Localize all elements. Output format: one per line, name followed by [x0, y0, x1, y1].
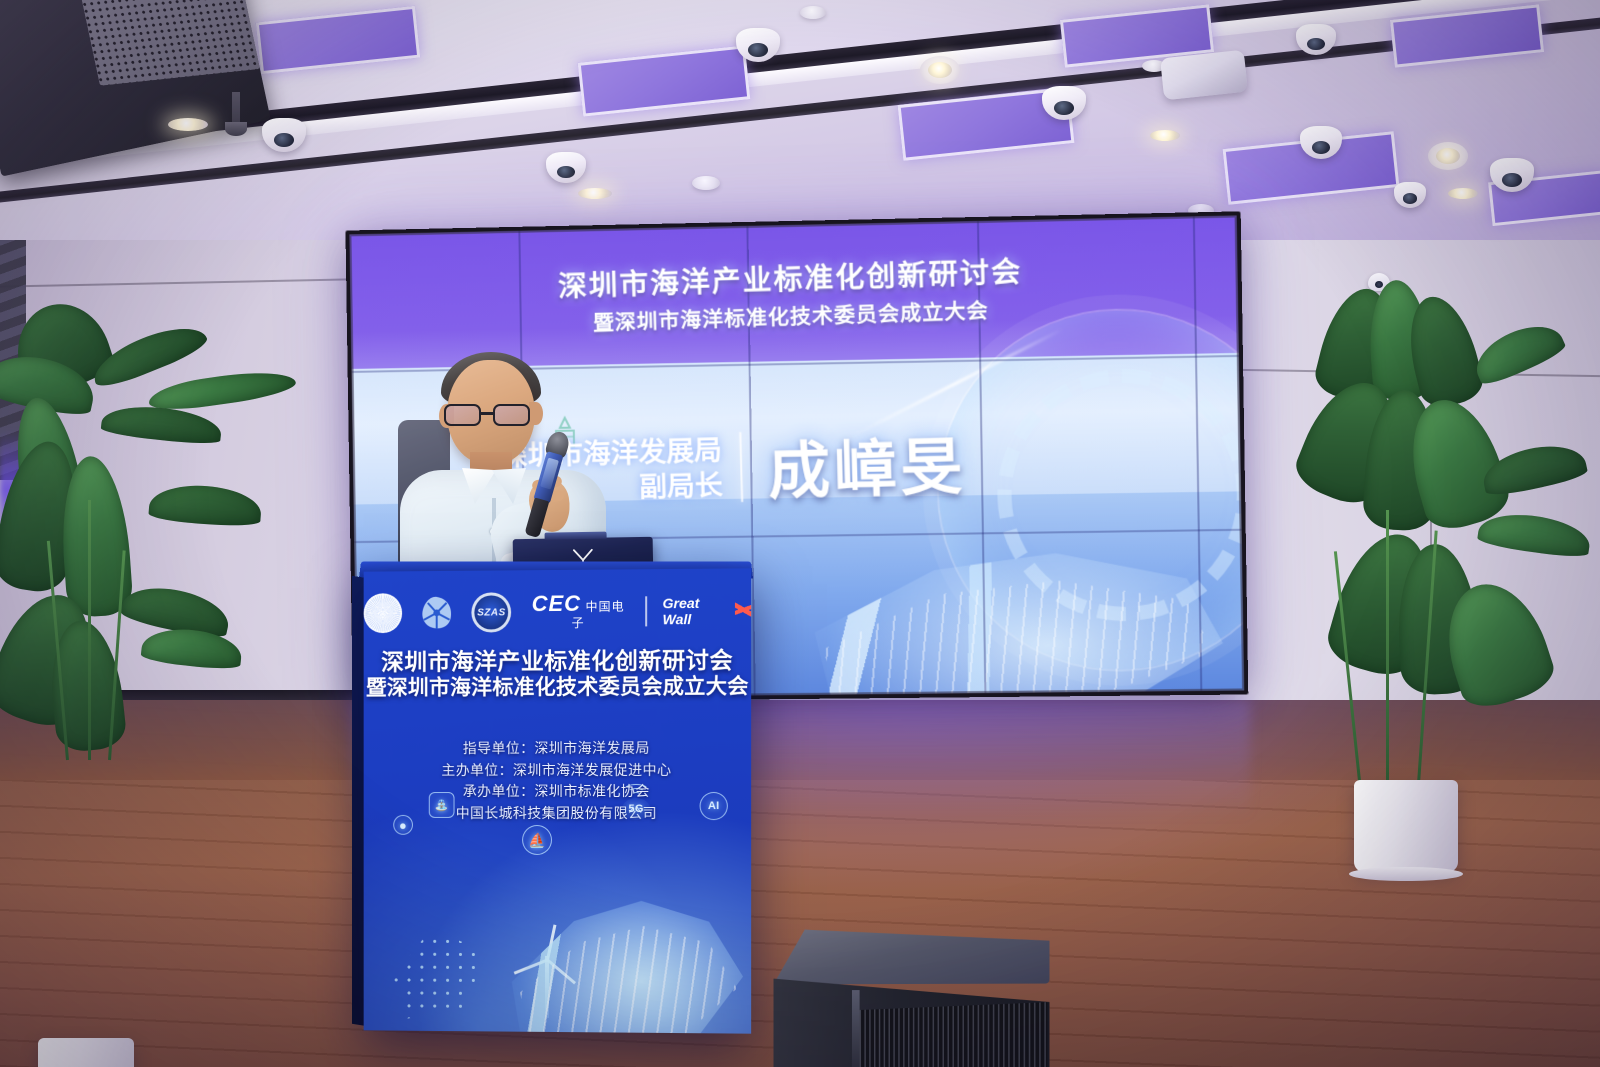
spotlight-5: [168, 118, 208, 131]
ai-label: AI: [708, 800, 720, 812]
great-wall-mark-icon: [735, 600, 751, 622]
leaf-logo-icon: [417, 593, 457, 633]
plant-leaf: [1477, 509, 1593, 560]
subwoofer-grille: [860, 1002, 1048, 1067]
bird-of-paradise-plant-right: [1290, 280, 1600, 860]
podium-org-line-1: 指导单位：深圳市海洋发展局: [364, 738, 751, 760]
speaker-mount: [232, 92, 240, 132]
ceiling-access-point: [1160, 50, 1248, 101]
5g-label: 5G: [628, 803, 643, 815]
cec-logo: CEC 中国电子: [526, 592, 630, 631]
plant-stem: [88, 500, 91, 760]
podium: SZAS CEC 中国电子 Great Wall 深圳市海洋产业标准化创新研讨会…: [364, 568, 751, 1033]
presenter-glasses: [444, 404, 540, 426]
plant-leaf: [147, 366, 297, 414]
plant-pot-right: [1354, 780, 1458, 872]
podium-headline-line1: 深圳市海洋产业标准化创新研讨会: [364, 647, 751, 676]
plant-leaf: [1479, 438, 1589, 499]
smoke-detector-3: [800, 6, 826, 19]
great-wall-logo: Great Wall: [663, 595, 752, 628]
satellite-dish-wireframe: [381, 913, 500, 1023]
subwoofer-top: [773, 926, 1049, 985]
bird-of-paradise-plant-left: [0, 290, 320, 870]
led-speaker-name: 成嶂旻: [741, 416, 968, 512]
speaker-grille: [75, 0, 260, 86]
podium-headline-line2: 暨深圳市海洋标准化技术委员会成立大会: [364, 674, 751, 701]
spotlight-4: [1448, 188, 1478, 199]
plant-stem: [1386, 510, 1389, 800]
podium-headline: 深圳市海洋产业标准化创新研讨会 暨深圳市海洋标准化技术委员会成立大会: [364, 647, 751, 701]
podium-artwork: [364, 767, 751, 1034]
plant-leaf: [100, 402, 223, 446]
podium-logo-row: SZAS CEC 中国电子 Great Wall: [364, 590, 751, 633]
logo-separator: [645, 596, 647, 626]
emblem-logo-icon: [364, 593, 403, 633]
factory-icon: ⛲: [429, 792, 455, 818]
laptop-hinge: [545, 532, 607, 540]
glasses-lens-right: [493, 404, 530, 426]
smoke-detector-1: [692, 176, 720, 190]
conference-room-photo: 深圳市海洋产业标准化创新研讨会 暨深圳市海洋标准化技术委员会成立大会 深圳市海洋…: [0, 0, 1600, 1067]
spotlight-2: [1436, 148, 1460, 164]
ai-icon: AI: [700, 792, 728, 820]
wifi-arcs-icon: [622, 784, 650, 800]
spotlight-6: [578, 188, 612, 199]
location-pin-icon: ●: [393, 815, 413, 835]
plant-leaf: [1468, 315, 1568, 389]
5g-icon: 5G: [622, 798, 650, 820]
plant-leaf: [148, 482, 262, 528]
plant-pot-left: [38, 1038, 134, 1067]
szas-logo-label: SZAS: [477, 607, 505, 618]
szas-logo-icon: SZAS: [472, 592, 511, 632]
ship-icon: ⛵: [522, 825, 552, 855]
subwoofer-edge: [852, 990, 860, 1067]
spotlight-3: [1150, 130, 1180, 141]
glasses-lens-left: [444, 404, 481, 426]
spotlight-1: [928, 62, 952, 78]
great-wall-logo-label: Great Wall: [663, 595, 732, 628]
plant-leaf: [140, 625, 243, 671]
cec-logo-label: CEC: [532, 591, 581, 616]
glasses-bridge: [481, 412, 493, 415]
floor-subwoofer: [773, 926, 1049, 1067]
